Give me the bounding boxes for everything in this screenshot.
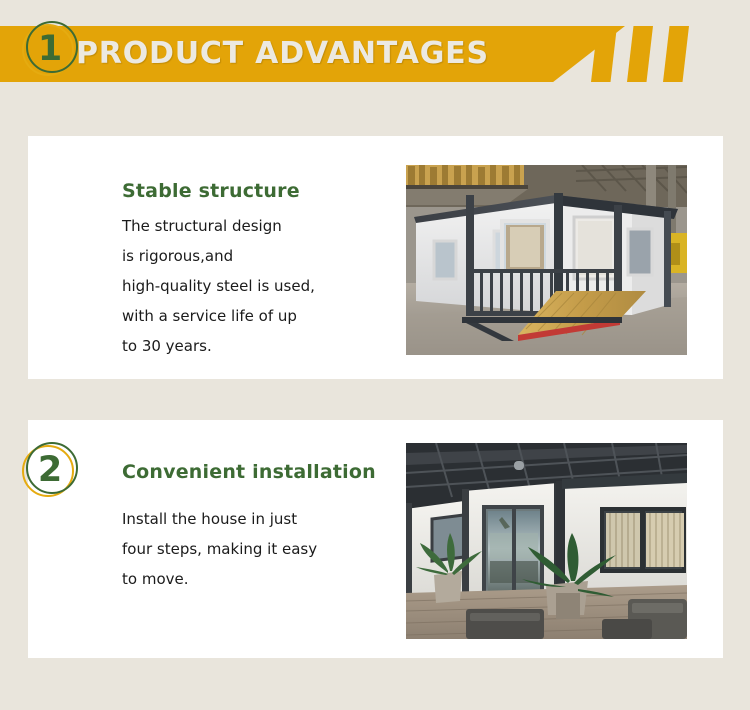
badge-number-2: 2 [22,442,78,498]
card-heading-2: Convenient installation [122,461,376,483]
banner-stripe-3 [663,26,689,82]
number-badge-2: 2 [22,442,78,498]
card-body-1-line-3: high-quality steel is used, [122,271,392,301]
card-photo-2 [406,443,687,639]
number-badge-1: 1 [22,21,78,77]
banner-stripe-2 [627,26,653,82]
card-body-2-line-1: Install the house in just [122,504,392,534]
container-house-photo [406,165,687,355]
badge-number-1: 1 [22,21,78,77]
card-body-1-line-2: is rigorous,and [122,241,392,271]
card-heading-1: Stable structure [122,180,300,202]
card-body-1-line-5: to 30 years. [122,331,392,361]
card-body-1: The structural design is rigorous,and hi… [122,211,392,361]
page-header-banner: PRODUCT ADVANTAGES [0,26,750,82]
card-body-1-line-4: with a service life of up [122,301,392,331]
card-body-1-line-1: The structural design [122,211,392,241]
card-body-2-line-3: to move. [122,564,392,594]
card-body-2-line-2: four steps, making it easy [122,534,392,564]
card-body-2: Install the house in just four steps, ma… [122,504,392,594]
card-photo-1 [406,165,687,355]
veranda-photo [406,443,687,639]
page-title: PRODUCT ADVANTAGES [76,26,489,82]
